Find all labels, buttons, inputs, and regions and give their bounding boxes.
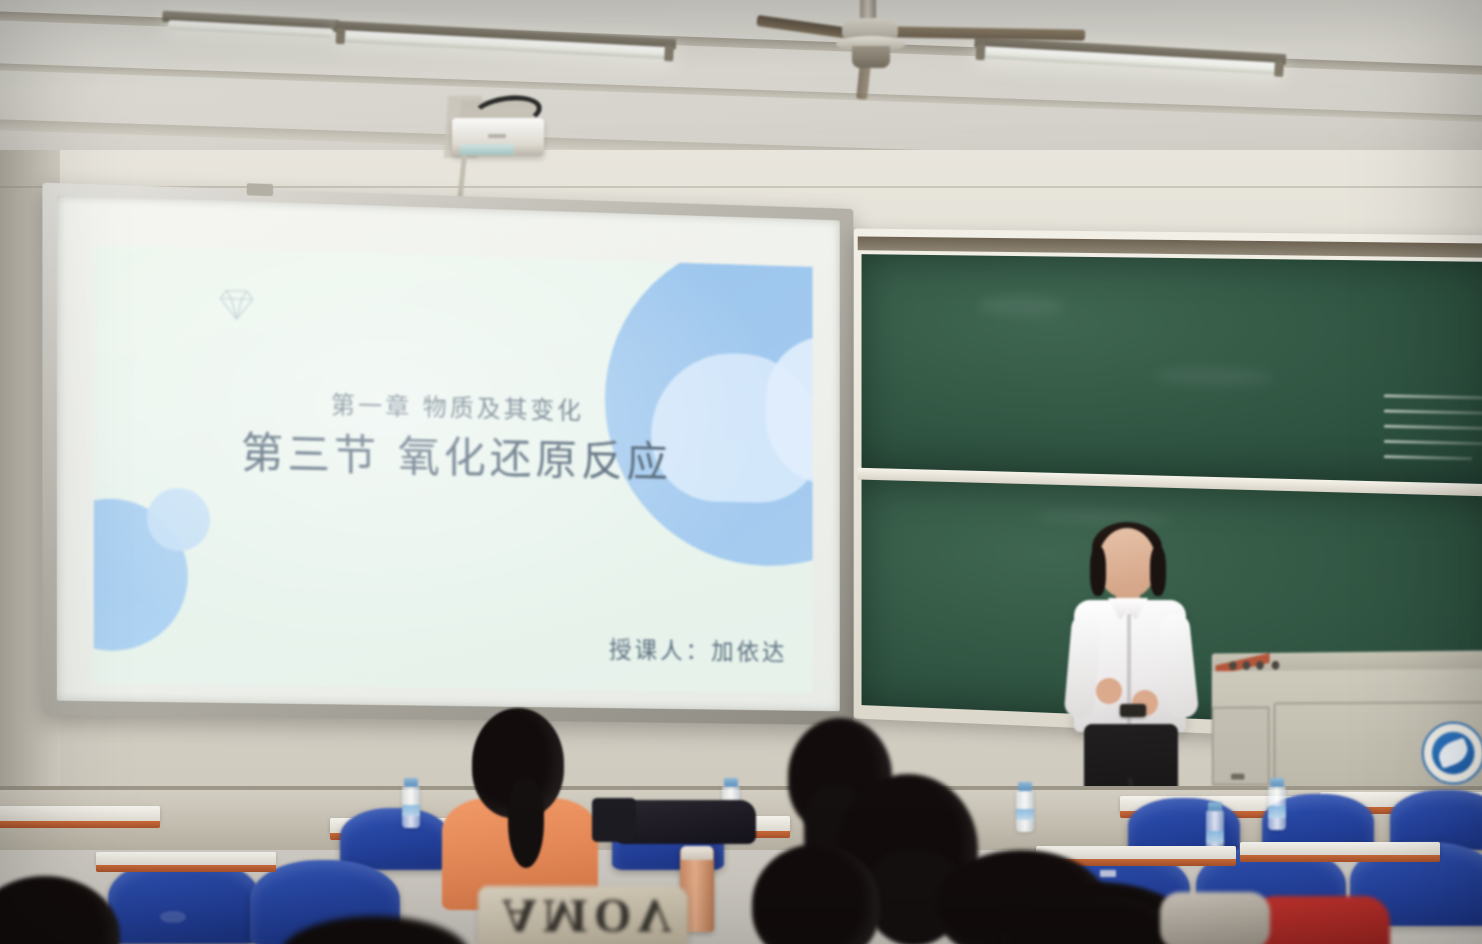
water-bottle (402, 786, 420, 828)
teacher-hair-side (1090, 546, 1106, 596)
projector-brand-label (488, 134, 506, 138)
whiteboard-surface: 第一章 物质及其变化 第三节 氧化还原反应 授课人：加依达 (57, 195, 840, 711)
audience-seating: AMOV (0, 700, 1482, 944)
ceiling-fan (772, 0, 1092, 66)
whiteboard-projection-screen[interactable]: 第一章 物质及其变化 第三节 氧化还原反应 授课人：加依达 (42, 183, 853, 726)
fan-hub (852, 46, 890, 68)
projector-lens (460, 144, 514, 155)
water-bottle (1268, 786, 1286, 830)
desk (1240, 842, 1440, 856)
chalkboard-handwriting (1384, 394, 1482, 473)
backpack (616, 800, 756, 844)
desk (96, 852, 276, 866)
podium-port-row[interactable] (1229, 661, 1287, 673)
desk (0, 806, 160, 822)
tote-bag: AMOV (478, 886, 688, 944)
chalk-smudge (1154, 368, 1274, 386)
light-cap (336, 28, 346, 44)
seat[interactable] (1390, 790, 1482, 850)
tote-bag-text: AMOV (502, 888, 678, 943)
chalkboard-panel-upper (862, 254, 1482, 484)
teacher-hair-side (1150, 546, 1166, 596)
ceiling-mounted-projector (452, 104, 548, 160)
chalk-smudge (1036, 510, 1174, 526)
board-clip (247, 183, 273, 196)
student-front-far-left-head (0, 876, 120, 944)
water-bottle (1016, 790, 1034, 832)
student-red-top-torso (1250, 896, 1390, 944)
student-ponytail (508, 778, 544, 868)
classroom-scene: 第一章 物质及其变化 第三节 氧化还原反应 授课人：加依达 (0, 0, 1482, 944)
plush-toy (1160, 892, 1270, 944)
light-cap (664, 45, 674, 61)
diamond-icon (216, 287, 257, 322)
slide-presenter-label: 授课人：加依达 (609, 631, 787, 668)
projected-slide: 第一章 物质及其变化 第三节 氧化还原反应 授课人：加依达 (94, 245, 813, 693)
seat[interactable] (340, 808, 450, 870)
desk-item-dark (592, 798, 636, 842)
slide-decor-circle-small (147, 487, 210, 551)
fan-blade (870, 26, 1086, 41)
light-cap (1274, 60, 1284, 76)
chalk-smudge (977, 295, 1065, 316)
